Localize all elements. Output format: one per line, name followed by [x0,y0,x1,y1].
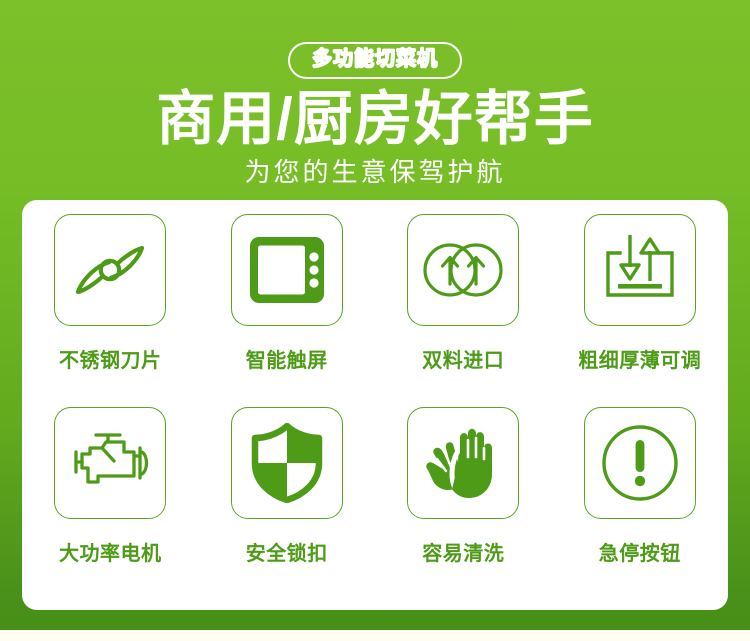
feature-label: 安全锁扣 [246,537,328,566]
bottom-strip [0,630,750,641]
blade-icon-box [54,214,166,326]
feature-label: 大功率电机 [59,537,162,566]
feature-label: 急停按钮 [599,537,681,566]
feature-item-thickness[interactable]: 粗细厚薄可调 [552,214,729,373]
feature-item-touchscreen[interactable]: 智能触屏 [199,214,376,373]
touchscreen-icon-box [231,214,343,326]
promo-banner: 多功能切菜机 商用/厨房好帮手 为您的生意保驾护航 [0,0,750,641]
shield-icon-box [231,407,343,519]
thickness-adjust-icon [600,231,680,309]
exclamation-circle-icon-box [584,407,696,519]
header: 多功能切菜机 商用/厨房好帮手 为您的生意保驾护航 [0,0,750,200]
feature-row-1: 不锈钢刀片 智能触屏 [22,214,728,373]
feature-item-motor[interactable]: 大功率电机 [22,407,199,566]
dual-arrow-circles-icon [422,240,504,300]
touchscreen-icon [247,234,327,306]
gloves-icon [422,424,504,502]
feature-item-emergency-stop[interactable]: 急停按钮 [552,407,729,566]
feature-card: 不锈钢刀片 智能触屏 [22,200,728,610]
thickness-adjust-icon-box [584,214,696,326]
motor-icon [68,428,152,498]
feature-label: 不锈钢刀片 [59,344,162,373]
feature-item-shield[interactable]: 安全锁扣 [199,407,376,566]
gloves-icon-box [407,407,519,519]
feature-row-2: 大功率电机 [22,407,728,566]
feature-label: 容易清洗 [422,537,504,566]
feature-label: 双料进口 [422,344,504,373]
dual-arrow-circles-icon-box [407,214,519,326]
feature-item-gloves[interactable]: 容易清洗 [375,407,552,566]
feature-label: 粗细厚薄可调 [578,344,701,373]
shield-icon [251,423,323,503]
feature-item-dual-import[interactable]: 双料进口 [375,214,552,373]
motor-icon-box [54,407,166,519]
feature-item-blade[interactable]: 不锈钢刀片 [22,214,199,373]
page-subtitle: 为您的生意保驾护航 [0,156,750,189]
page-title: 商用/厨房好帮手 [0,86,750,152]
blade-icon [68,228,152,312]
feature-label: 智能触屏 [246,344,328,373]
exclamation-circle-icon [600,423,680,503]
product-category-badge: 多功能切菜机 [288,42,462,79]
